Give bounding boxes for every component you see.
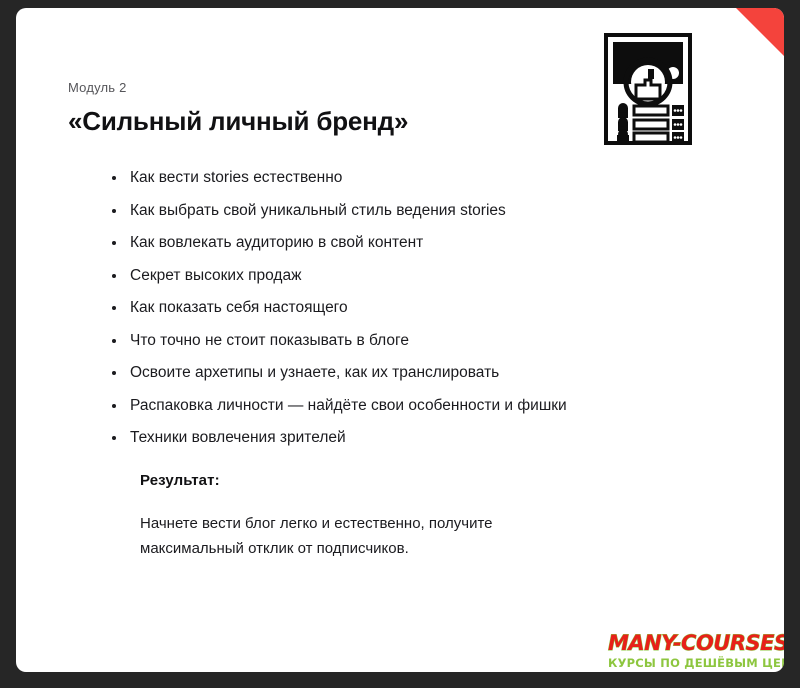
result-title: Результат: <box>140 472 570 489</box>
corner-fold-decoration <box>736 8 784 56</box>
slide-frame: Модуль 2 «Сильный личный бренд» Как вест… <box>0 0 800 688</box>
watermark: MANY-COURSES.RU КУРСЫ ПО ДЕШЁВЫМ ЦЕНАМ <box>608 632 784 670</box>
watermark-subtitle: КУРСЫ ПО ДЕШЁВЫМ ЦЕНАМ <box>608 656 784 670</box>
page-title: «Сильный личный бренд» <box>68 106 408 137</box>
red-triangle-icon <box>736 8 784 56</box>
list-item: Что точно не стоит показывать в блоге <box>108 328 578 354</box>
list-item: Как вести stories естественно <box>108 165 578 191</box>
watermark-title: MANY-COURSES.RU <box>608 632 784 655</box>
list-item: Техники вовлечения зрителей <box>108 425 578 451</box>
list-item: Распаковка личности — найдёте свои особе… <box>108 393 578 419</box>
profile-card-icon <box>604 33 692 145</box>
list-item: Как вовлекать аудиторию в свой контент <box>108 230 578 256</box>
topics-list: Как вести stories естественно Как выбрат… <box>108 165 578 458</box>
list-item: Как показать себя настоящего <box>108 295 578 321</box>
result-text: Начнете вести блог легко и естественно, … <box>140 511 570 561</box>
slide-card: Модуль 2 «Сильный личный бренд» Как вест… <box>16 8 784 672</box>
list-item: Освоите архетипы и узнаете, как их транс… <box>108 360 578 386</box>
list-item: Секрет высоких продаж <box>108 263 578 289</box>
result-block: Результат: Начнете вести блог легко и ес… <box>140 472 570 561</box>
module-label: Модуль 2 <box>68 80 127 95</box>
list-item: Как выбрать свой уникальный стиль ведени… <box>108 198 578 224</box>
